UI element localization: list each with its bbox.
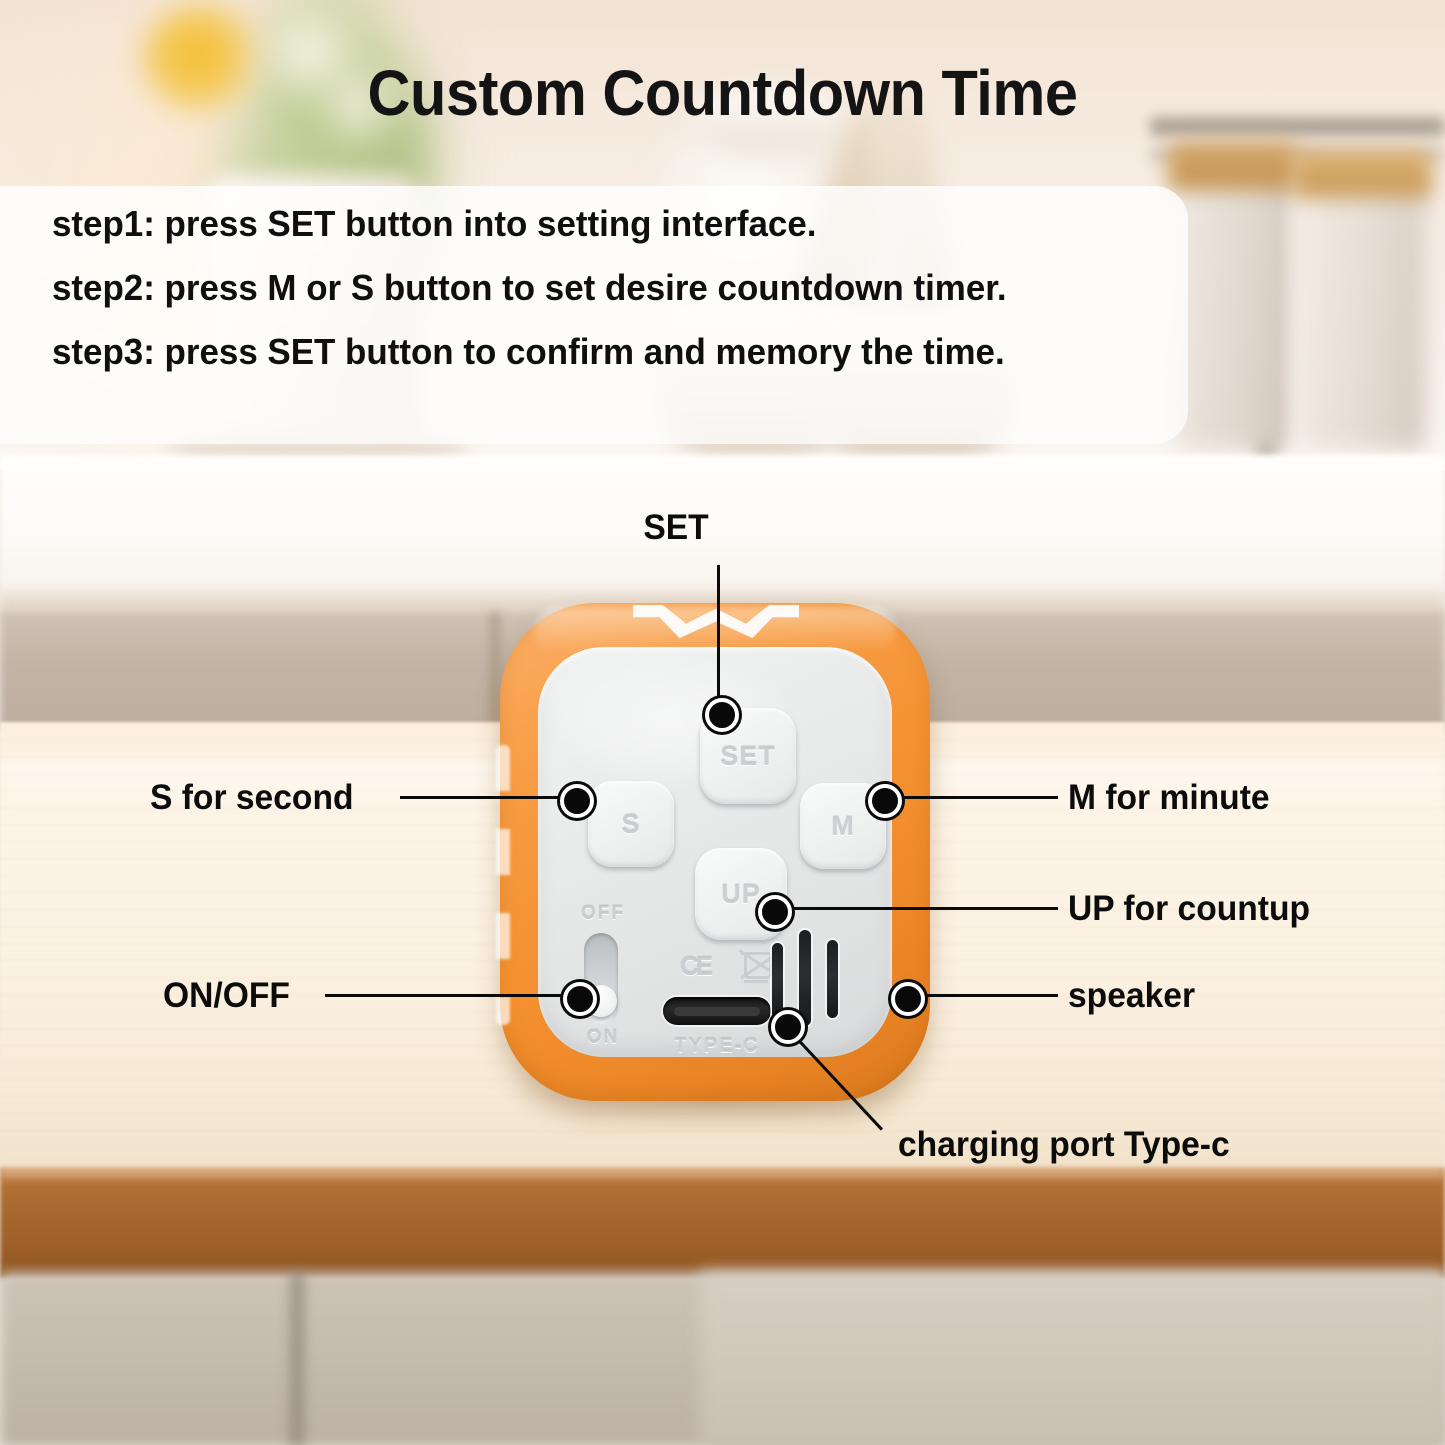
- table-front-edge: [0, 1168, 1445, 1278]
- table-leg: [290, 1272, 304, 1445]
- callout-label-countup: UP for countup: [1068, 889, 1310, 929]
- step-item-2: step2: press M or S button to set desire…: [52, 270, 1158, 306]
- storage-jar: [1300, 180, 1425, 450]
- callout-line-speaker: [903, 994, 1058, 997]
- callout-label-set: SET: [643, 508, 708, 548]
- floor-area: [700, 1272, 1445, 1445]
- storage-jar-lid: [1292, 150, 1432, 198]
- callout-line-onoff: [325, 994, 575, 997]
- switch-on-label: ON: [572, 1027, 634, 1049]
- usb-c-port-label: TYPE-C: [643, 1035, 791, 1058]
- instructions-list: step1: press SET button into setting int…: [52, 206, 1192, 398]
- callout-line-set: [717, 565, 720, 710]
- callout-dot-set: [705, 698, 739, 732]
- callout-label-onoff: ON/OFF: [163, 976, 290, 1016]
- callout-line-minute: [880, 796, 1058, 799]
- weee-bin-icon: [740, 947, 774, 985]
- countup-button-label: UP: [721, 879, 761, 910]
- table-edge-highlight: [0, 1168, 1445, 1182]
- callout-label-speaker: speaker: [1068, 976, 1195, 1016]
- switch-off-label: OFF: [572, 903, 634, 925]
- ce-mark-icon: CE: [680, 951, 710, 982]
- callout-dot-minute: [868, 784, 902, 818]
- minute-button-label: M: [831, 811, 855, 842]
- side-branding: [496, 745, 510, 1025]
- weee-underline: [744, 980, 768, 983]
- speaker-slot-icon: [827, 940, 838, 1018]
- storage-jar-lid: [1168, 142, 1298, 190]
- second-button-label: S: [621, 809, 640, 840]
- second-button[interactable]: S: [588, 781, 674, 867]
- callout-dot-countup: [758, 895, 792, 929]
- callout-line-countup: [770, 907, 1058, 910]
- callout-label-second: S for second: [150, 778, 354, 818]
- callout-dot-onoff: [563, 982, 597, 1016]
- callout-line-second: [400, 796, 575, 799]
- speaker-slot-icon: [772, 943, 783, 1019]
- timer-device: SET S M UP OFF ON CE TYPE-C: [500, 603, 930, 1103]
- usb-c-port: [663, 997, 771, 1025]
- step-item-3: step3: press SET button to confirm and m…: [52, 334, 1158, 370]
- storage-jar: [1175, 170, 1290, 450]
- callout-dot-second: [560, 784, 594, 818]
- cabinet-seam: [490, 612, 500, 730]
- infographic-canvas: Custom Countdown Time step1: press SET b…: [0, 0, 1445, 1445]
- callout-label-charging: charging port Type-c: [898, 1125, 1230, 1165]
- callout-dot-speaker: [891, 982, 925, 1016]
- callout-dot-charging: [771, 1010, 805, 1044]
- page-title: Custom Countdown Time: [51, 56, 1395, 130]
- set-button-label: SET: [720, 741, 776, 772]
- usb-c-port-inner: [674, 1007, 760, 1016]
- speaker-slot-icon: [799, 930, 811, 1026]
- callout-label-minute: M for minute: [1068, 778, 1270, 818]
- step-item-1: step1: press SET button into setting int…: [52, 206, 1158, 242]
